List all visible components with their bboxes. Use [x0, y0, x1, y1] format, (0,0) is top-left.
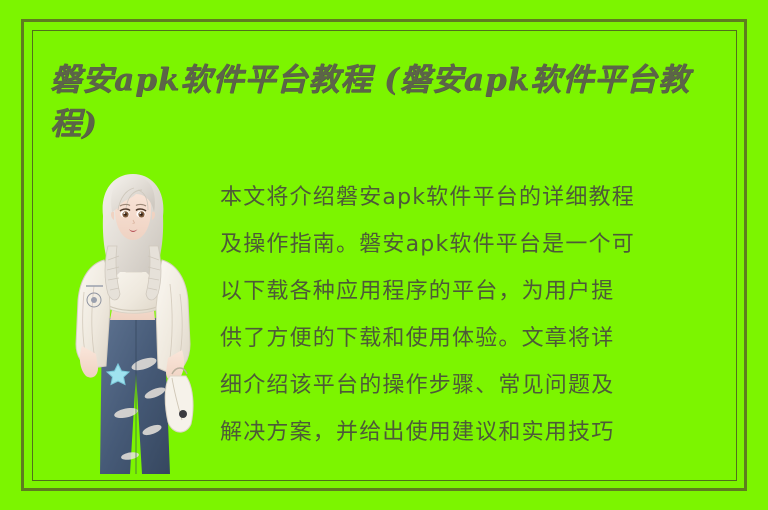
page-title: 磐安apk软件平台教程 (磐安apk软件平台教程) — [50, 58, 710, 146]
poster-canvas: 磐安apk软件平台教程 (磐安apk软件平台教程) — [0, 0, 768, 510]
handbag — [165, 368, 193, 432]
article-paragraph: 本文将介绍磐安apk软件平台的详细教程 及操作指南。磐安apk软件平台是一个可 … — [220, 174, 720, 456]
article-content: 本文将介绍磐安apk软件平台的详细教程 及操作指南。磐安apk软件平台是一个可 … — [48, 168, 720, 478]
anime-girl-illustration — [60, 168, 206, 474]
anime-girl-illustration-svg — [60, 168, 206, 474]
